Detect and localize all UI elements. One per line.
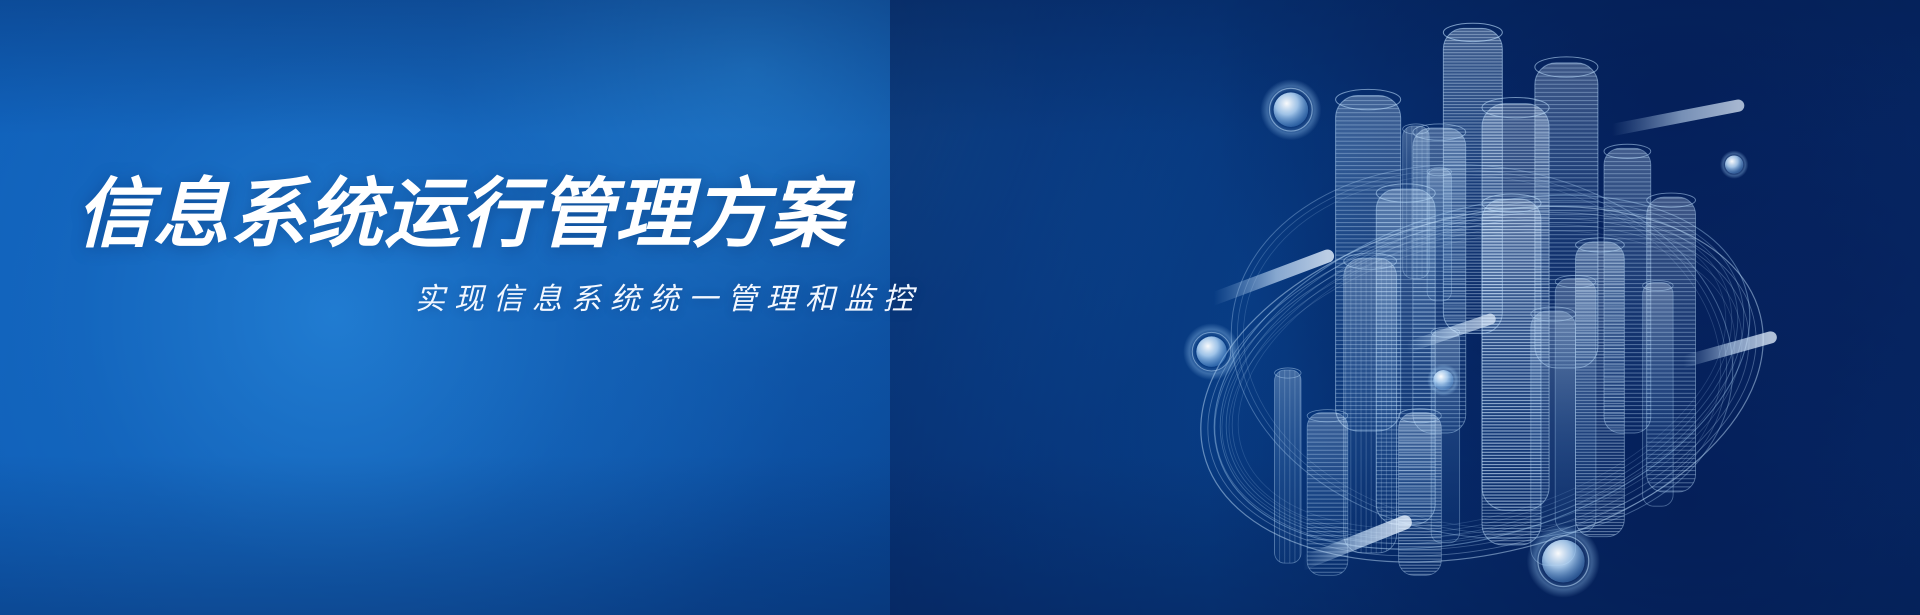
banner-hero: 信息系统运行管理方案 实现信息系统统一管理和监控 bbox=[0, 0, 1920, 615]
glow-sphere-2 bbox=[1183, 323, 1240, 380]
glow-sphere-5 bbox=[1720, 150, 1748, 178]
tower-front-3 bbox=[1275, 368, 1301, 563]
tower-front-1 bbox=[1344, 253, 1397, 553]
light-streak-2 bbox=[1612, 106, 1738, 130]
page-subtitle: 实现信息系统统一管理和监控 bbox=[76, 274, 956, 318]
glow-sphere-1 bbox=[1260, 79, 1321, 140]
tower-group bbox=[1275, 23, 1696, 575]
headline-block: 信息系统运行管理方案 实现信息系统统一管理和监控 bbox=[76, 175, 956, 318]
light-streak-4 bbox=[1683, 337, 1770, 361]
page-title: 信息系统运行管理方案 bbox=[76, 175, 956, 256]
glow-sphere-4 bbox=[1527, 525, 1600, 598]
glow-sphere-3 bbox=[1427, 364, 1460, 397]
light-streak-1 bbox=[1214, 256, 1328, 299]
wireframe-city-illustration bbox=[1162, 6, 1802, 615]
tower-front-7 bbox=[1643, 281, 1674, 507]
tower-front-5 bbox=[1399, 409, 1442, 576]
